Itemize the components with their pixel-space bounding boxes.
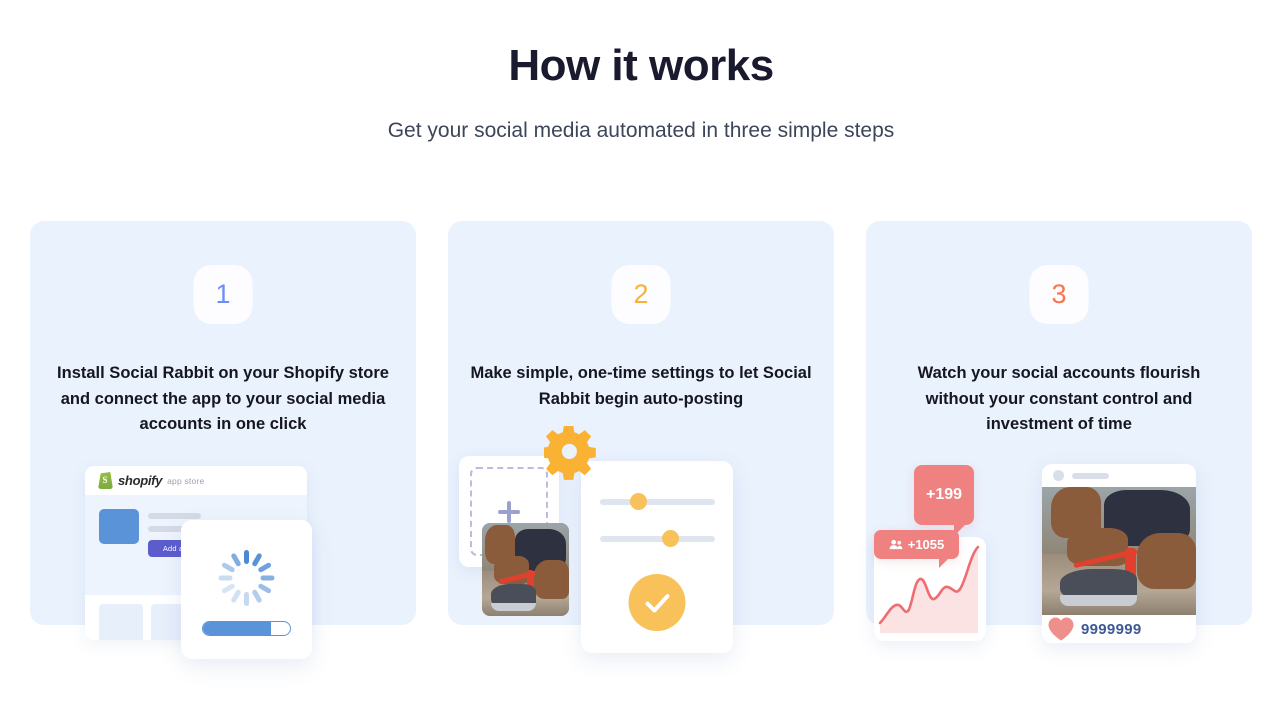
spinner-segment [221,562,236,573]
likes-bubble: +199 [914,465,974,525]
spinner-segment [244,592,249,606]
step-description-2: Make simple, one-time settings to let So… [448,361,834,412]
heart-icon[interactable] [1047,616,1075,642]
spinner-segment [244,550,249,564]
progress-bar [202,621,291,636]
plus-icon [498,501,520,523]
tile [99,604,143,640]
like-count: 9999999 [1081,621,1142,638]
spinner-segment [221,583,236,594]
app-thumbnail [99,509,139,544]
shopify-window-header: S shopify app store [85,466,307,495]
section-header: How it works Get your social media autom… [0,0,1282,143]
shopify-brand-label: shopify [118,473,162,488]
shopify-logo-icon: S [98,472,113,489]
uploaded-photo-thumbnail [482,523,569,616]
settings-panel-card [581,461,733,653]
loading-spinner-icon [219,550,275,606]
page-subtitle: Get your social media automated in three… [0,119,1282,143]
likes-bubble-label: +199 [926,486,962,504]
page-title: How it works [0,42,1282,90]
progress-bar-fill [203,622,271,635]
slider-handle[interactable] [662,530,679,547]
username-placeholder [1072,473,1109,479]
slider-track[interactable] [600,499,715,505]
step-number-badge-3: 3 [1030,265,1089,324]
slider-handle[interactable] [630,493,647,510]
spinner-segment [251,553,262,568]
runner-photo [482,523,569,616]
social-post-card: 9999999 [1042,464,1196,643]
spinner-segment [230,589,241,604]
step-number-badge-2: 2 [612,265,671,324]
spinner-segment [261,576,275,581]
spinner-segment [219,576,233,581]
post-image [1042,487,1196,615]
loading-card [181,520,312,659]
confirm-check-button[interactable] [629,574,686,631]
step-description-1: Install Social Rabbit on your Shopify st… [30,361,416,438]
step-card-2: 2 Make simple, one-time settings to let … [448,221,834,625]
slider-track[interactable] [600,536,715,542]
people-icon [889,539,903,550]
step-card-1: 1 Install Social Rabbit on your Shopify … [30,221,416,625]
placeholder-line [148,513,201,519]
spinner-segment [230,553,241,568]
check-icon [642,588,672,618]
post-footer: 9999999 [1042,615,1196,643]
how-it-works-section: How it works Get your social media autom… [0,0,1282,719]
spinner-segment [257,562,272,573]
steps-grid: 1 Install Social Rabbit on your Shopify … [30,221,1252,625]
spinner-segment [257,583,272,594]
runner-photo [1042,487,1196,615]
spinner-segment [251,589,262,604]
shopify-appstore-label: app store [167,476,204,486]
step-description-3: Watch your social accounts flourish with… [866,361,1252,438]
gear-icon [544,426,598,480]
avatar [1053,470,1064,481]
followers-bubble-label: +1055 [908,537,945,552]
post-header [1042,464,1196,487]
step-card-3: 3 Watch your social accounts flourish wi… [866,221,1252,625]
step-number-badge-1: 1 [194,265,253,324]
followers-bubble: +1055 [874,530,959,559]
